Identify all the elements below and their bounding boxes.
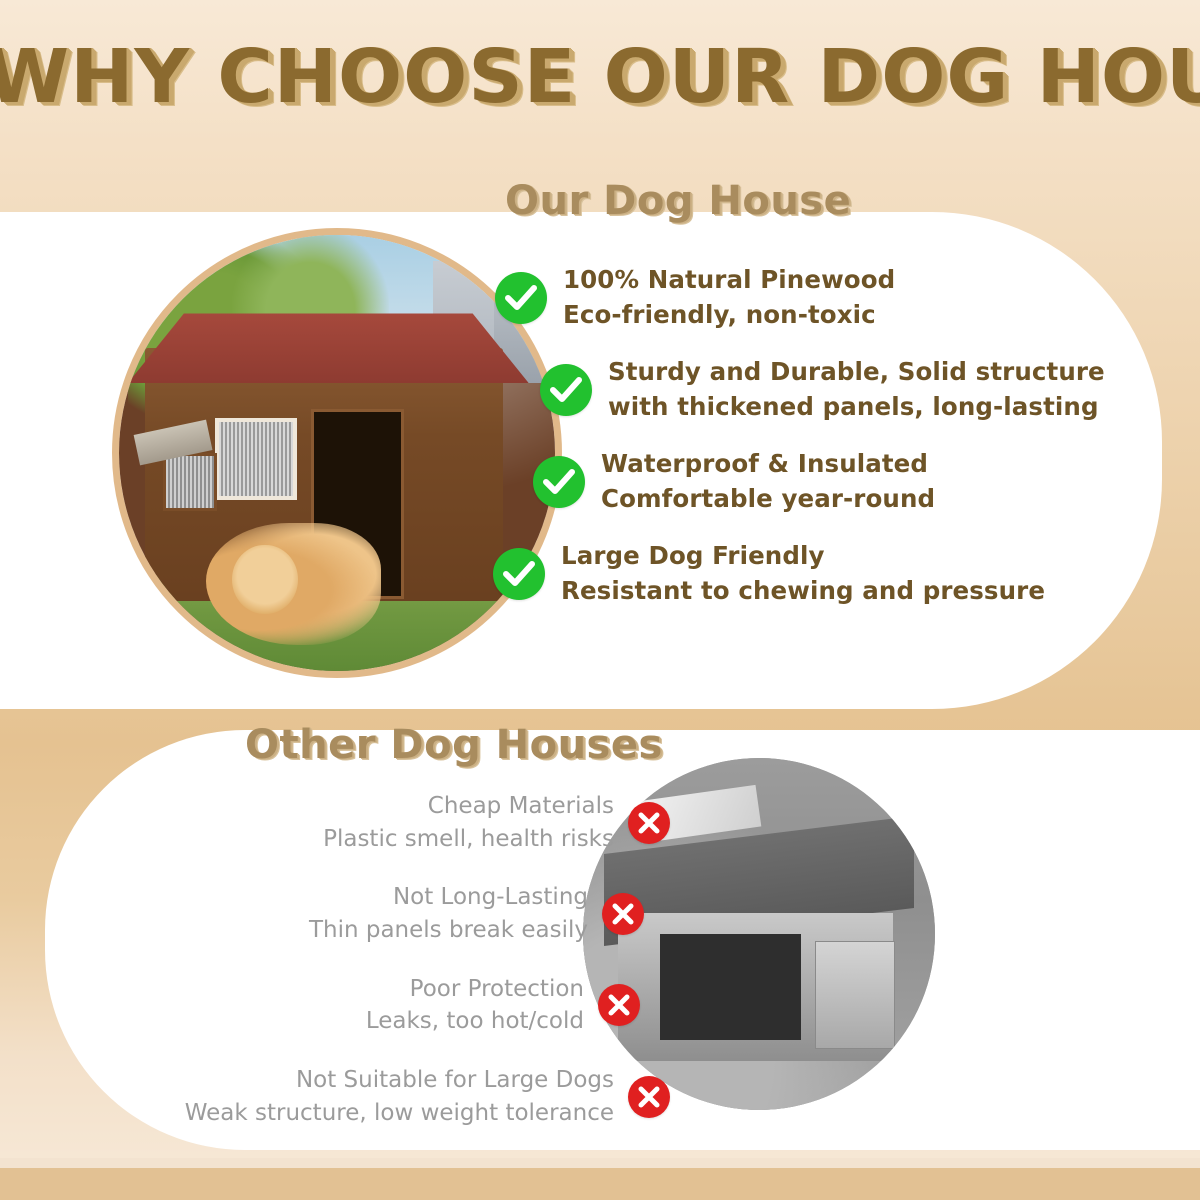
drawback-line1: Not Suitable for Large Dogs [296, 1067, 614, 1093]
broken-panel [815, 941, 894, 1049]
benefit-line2: Comfortable year-round [601, 482, 935, 517]
check-icon [495, 272, 547, 324]
drawback-line2: Plastic smell, health risks [323, 823, 614, 856]
drawback-item: Not Long-Lasting Thin panels break easil… [80, 881, 644, 946]
benefit-item: Sturdy and Durable, Solid structure with… [540, 354, 1145, 426]
house-window [215, 418, 297, 500]
cross-icon [628, 1076, 670, 1118]
page-title-text: WHY CHOOSE OUR DOG HOUSE?" [0, 34, 1200, 120]
benefit-text: Sturdy and Durable, Solid structure with… [608, 355, 1105, 425]
bottom-tan-strip [0, 1168, 1200, 1200]
benefit-line1: Large Dog Friendly [561, 541, 825, 570]
drawback-item: Cheap Materials Plastic smell, health ri… [80, 790, 670, 855]
drawback-line2: Thin panels break easily [309, 914, 588, 947]
drawback-item: Not Suitable for Large Dogs Weak structu… [80, 1064, 670, 1129]
drawback-item: Poor Protection Leaks, too hot/cold [80, 973, 640, 1038]
house-side-window [163, 453, 217, 511]
drawback-text: Poor Protection Leaks, too hot/cold [366, 973, 584, 1038]
benefits-list: 100% Natural Pinewood Eco-friendly, non-… [485, 262, 1145, 630]
drawback-line1: Not Long-Lasting [393, 884, 588, 910]
golden-retriever-head [232, 545, 297, 615]
check-icon [540, 364, 592, 416]
cross-icon [628, 802, 670, 844]
page-title: WHY CHOOSE OUR DOG HOUSE?" [0, 34, 1200, 120]
drawback-line2: Leaks, too hot/cold [366, 1005, 584, 1038]
benefit-text: Waterproof & Insulated Comfortable year-… [601, 447, 935, 517]
cross-icon [602, 893, 644, 935]
drawback-line1: Cheap Materials [428, 793, 614, 819]
drawback-text: Not Suitable for Large Dogs Weak structu… [185, 1064, 614, 1129]
drawback-line2: Weak structure, low weight tolerance [185, 1097, 614, 1130]
drawback-text: Cheap Materials Plastic smell, health ri… [323, 790, 614, 855]
benefit-line1: 100% Natural Pinewood [563, 265, 895, 294]
drawback-text: Not Long-Lasting Thin panels break easil… [309, 881, 588, 946]
check-icon [533, 456, 585, 508]
check-icon [493, 548, 545, 600]
benefit-text: 100% Natural Pinewood Eco-friendly, non-… [563, 263, 895, 333]
red-shingle-roof [128, 313, 529, 383]
benefit-item: 100% Natural Pinewood Eco-friendly, non-… [495, 262, 1145, 334]
benefit-line2: Resistant to chewing and pressure [561, 574, 1045, 609]
benefit-text: Large Dog Friendly Resistant to chewing … [561, 539, 1045, 609]
bottom-light-strip [0, 1158, 1200, 1168]
benefit-line1: Waterproof & Insulated [601, 449, 928, 478]
house-opening [660, 934, 801, 1040]
our-dog-house-heading: Our Dog House [505, 178, 851, 224]
benefit-line2: with thickened panels, long-lasting [608, 390, 1105, 425]
drawbacks-list: Cheap Materials Plastic smell, health ri… [80, 790, 670, 1155]
benefit-line2: Eco-friendly, non-toxic [563, 298, 895, 333]
cross-icon [598, 984, 640, 1026]
benefit-item: Large Dog Friendly Resistant to chewing … [493, 538, 1145, 610]
benefit-line1: Sturdy and Durable, Solid structure [608, 357, 1105, 386]
drawback-line1: Poor Protection [410, 976, 584, 1002]
benefit-item: Waterproof & Insulated Comfortable year-… [533, 446, 1145, 518]
